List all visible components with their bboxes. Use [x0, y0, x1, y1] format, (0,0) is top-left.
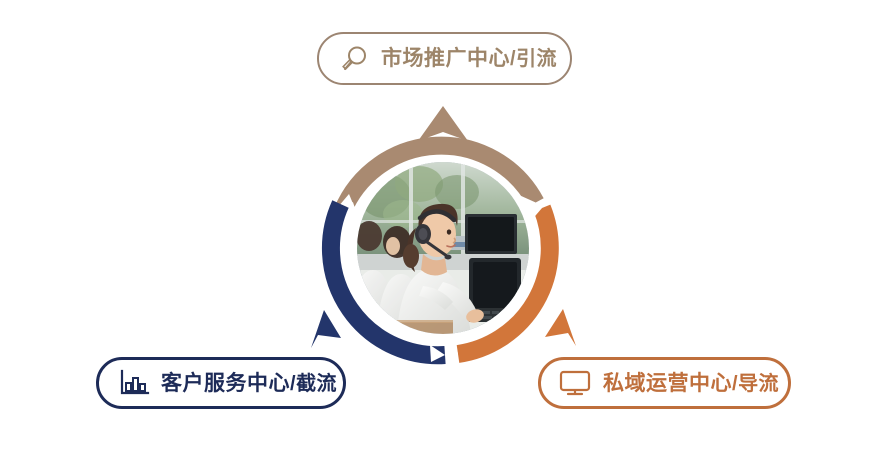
node-label-market[interactable]: 市场推广中心/引流: [317, 32, 572, 85]
monitor-icon: [558, 368, 592, 398]
node-label-service-main: 客户服务中心: [161, 373, 290, 394]
node-label-service-sub: 截流: [296, 374, 337, 394]
node-label-market-main: 市场推广中心: [381, 48, 510, 69]
arrow-bottom-left-icon: [311, 310, 341, 348]
node-label-private-domain-sub: 导流: [738, 374, 779, 394]
node-label-service-text: 客户服务中心/截流: [161, 373, 337, 394]
node-label-private-domain-text: 私域运营中心/导流: [603, 373, 779, 394]
call-center-photo: [357, 162, 529, 334]
arrow-top-icon: [418, 106, 468, 141]
bar-chart-icon: [118, 368, 150, 398]
magnifier-icon: [340, 44, 370, 74]
center-photo: [357, 162, 529, 334]
node-label-private-domain[interactable]: 私域运营中心/导流: [538, 357, 791, 409]
node-label-market-sub: 引流: [516, 49, 557, 69]
node-label-market-text: 市场推广中心/引流: [381, 48, 557, 69]
arrow-bottom-right-icon: [545, 309, 576, 346]
node-label-service[interactable]: 客户服务中心/截流: [96, 357, 346, 409]
node-label-private-domain-main: 私域运营中心: [603, 373, 732, 394]
infographic-canvas: 市场推广中心/引流 客户服务中心/截流 私域运营中心/导流: [0, 0, 884, 450]
